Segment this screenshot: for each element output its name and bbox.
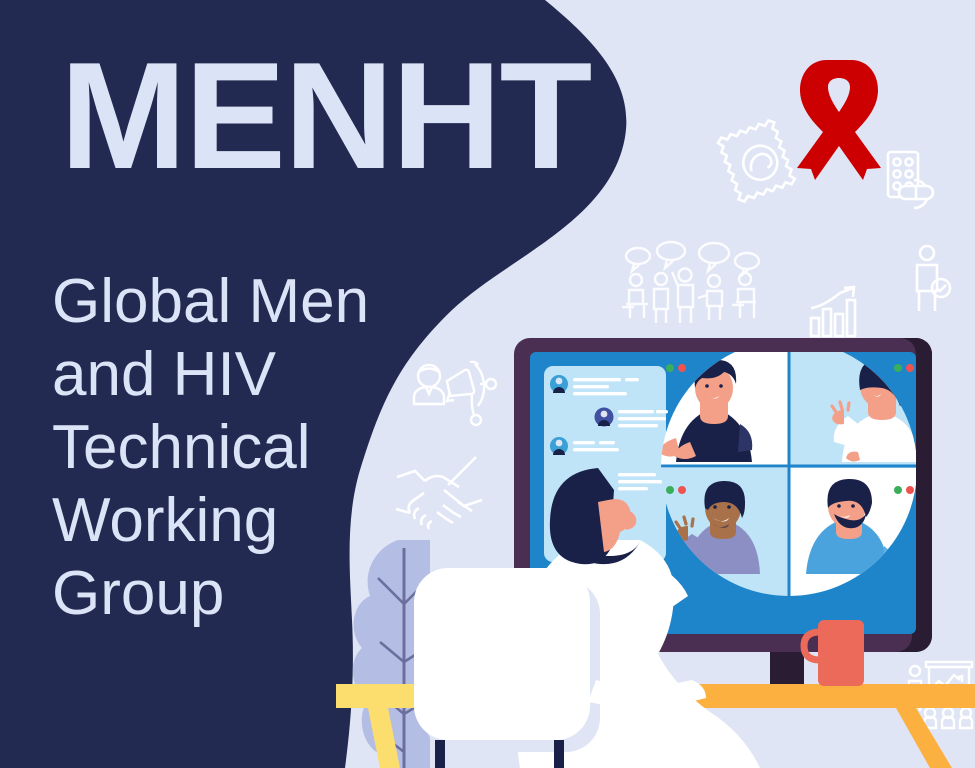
chat-message xyxy=(595,408,669,428)
video-conference-illustration xyxy=(0,0,975,768)
office-chair xyxy=(414,568,600,768)
coffee-mug xyxy=(804,620,864,686)
poster-canvas: MENHT MENHT Global Men and HIV Technical… xyxy=(0,0,975,768)
